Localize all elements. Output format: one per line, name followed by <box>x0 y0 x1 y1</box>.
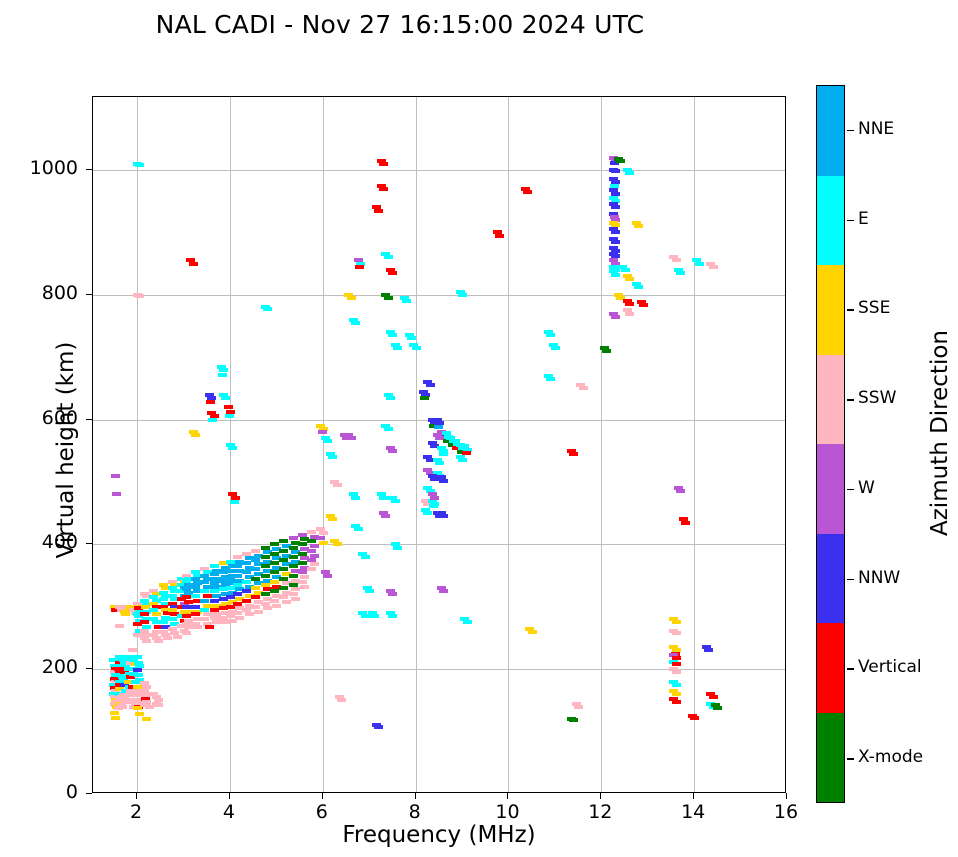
echo-point <box>242 561 251 565</box>
echo-point <box>261 555 270 559</box>
echo-point <box>200 599 209 603</box>
echo-point <box>310 562 319 566</box>
echo-point <box>134 673 143 677</box>
echo-point <box>307 567 316 571</box>
colorbar-label-sse: SSE <box>858 298 890 318</box>
echo-point <box>429 504 438 508</box>
y-axis-tick-label: 200 <box>8 656 78 678</box>
echo-point <box>307 549 316 553</box>
echo-point <box>205 625 214 629</box>
colorbar-title: Azimuth Direction <box>927 253 953 613</box>
echo-point <box>133 668 142 672</box>
echo-point <box>279 549 288 553</box>
echo-point <box>333 542 342 546</box>
x-axis-tick-label: 10 <box>477 801 537 823</box>
echo-point <box>289 574 298 578</box>
echo-point <box>676 489 685 493</box>
gridline-horizontal <box>93 669 785 670</box>
echo-point <box>133 706 142 710</box>
echo-point <box>193 625 202 629</box>
echo-point <box>298 542 307 546</box>
echo-point <box>676 271 685 275</box>
gridline-horizontal <box>93 295 785 296</box>
echo-point <box>379 496 388 500</box>
echo-point <box>221 396 230 400</box>
echo-point <box>420 396 429 400</box>
echo-point <box>206 400 215 404</box>
echo-point <box>361 614 370 618</box>
echo-point <box>115 624 124 628</box>
echo-point <box>233 555 242 559</box>
echo-point <box>226 569 235 573</box>
echo-point <box>233 611 242 615</box>
echo-point <box>384 296 393 300</box>
echo-point <box>191 612 200 616</box>
echo-point <box>439 589 448 593</box>
echo-point <box>270 580 279 584</box>
x-axis-tick <box>693 793 694 799</box>
echo-point <box>672 631 681 635</box>
echo-point <box>111 474 120 478</box>
x-axis-tick-label: 8 <box>385 801 445 823</box>
echo-point <box>242 599 251 603</box>
y-axis-tick <box>86 793 92 794</box>
echo-point <box>140 612 149 616</box>
echo-point <box>388 614 397 618</box>
echo-point <box>611 240 620 244</box>
echo-point <box>251 605 260 609</box>
echo-point <box>142 639 151 643</box>
echo-point <box>224 405 233 409</box>
colorbar-segment-sse[interactable] <box>817 265 844 355</box>
echo-point <box>328 517 337 521</box>
echo-point <box>370 614 379 618</box>
echo-point <box>391 499 400 503</box>
colorbar-label-e: E <box>858 209 869 229</box>
echo-point <box>189 262 198 266</box>
colorbar-tick <box>847 579 854 580</box>
echo-point <box>289 536 298 540</box>
echo-point <box>154 639 163 643</box>
x-axis-tick <box>507 793 508 799</box>
echo-point <box>672 662 681 666</box>
colorbar-segment-x-mode[interactable] <box>817 713 844 803</box>
echo-point <box>200 580 209 584</box>
echo-point <box>495 234 504 238</box>
echo-point <box>402 299 411 303</box>
colorbar-segment-nnw[interactable] <box>817 534 844 624</box>
echo-point <box>347 296 356 300</box>
gridline-vertical <box>323 97 324 792</box>
echo-point <box>435 461 444 465</box>
echo-point <box>121 612 130 616</box>
echo-point <box>704 648 713 652</box>
echo-point <box>523 190 532 194</box>
echo-point <box>245 612 254 616</box>
echo-point <box>546 377 555 381</box>
echo-point <box>307 530 316 534</box>
echo-point <box>225 414 234 418</box>
echo-point <box>634 224 643 228</box>
echo-point <box>611 273 620 277</box>
x-axis-tick <box>136 793 137 799</box>
echo-point <box>242 580 251 584</box>
echo-point <box>611 169 620 173</box>
echo-point <box>551 346 560 350</box>
echo-point <box>208 418 217 422</box>
echo-point <box>386 396 395 400</box>
echo-point <box>546 333 555 337</box>
echo-point <box>388 333 397 337</box>
echo-point <box>110 711 119 715</box>
echo-point <box>611 315 620 319</box>
echo-point <box>233 574 242 578</box>
echo-point <box>182 605 191 609</box>
colorbar-segment-ssw[interactable] <box>817 355 844 445</box>
echo-point <box>270 561 279 565</box>
x-axis-tick <box>786 793 787 799</box>
echo-point <box>569 452 578 456</box>
echo-point <box>298 561 307 565</box>
echo-point <box>112 492 121 496</box>
echo-point <box>695 262 704 266</box>
colorbar-label-ssw: SSW <box>858 388 896 408</box>
echo-point <box>709 695 718 699</box>
colorbar-segment-e[interactable] <box>817 176 844 266</box>
echo-point <box>142 717 151 721</box>
echo-point <box>616 159 625 163</box>
echo-point <box>152 612 161 616</box>
colorbar-label-vertical: Vertical <box>858 657 922 677</box>
echo-point <box>337 698 346 702</box>
gridline-vertical <box>416 97 417 792</box>
echo-point <box>154 703 163 707</box>
y-axis-tick <box>86 543 92 544</box>
echo-point <box>672 258 681 262</box>
echo-point <box>672 700 681 704</box>
echo-point <box>439 479 448 483</box>
x-axis-title: Frequency (MHz) <box>92 822 786 848</box>
colorbar-segment-vertical[interactable] <box>817 623 844 713</box>
echo-point <box>709 265 718 269</box>
echo-point <box>379 162 388 166</box>
echo-point <box>323 574 332 578</box>
echo-point <box>270 599 279 603</box>
colorbar-tick <box>847 309 854 310</box>
echo-point <box>412 346 421 350</box>
echo-point <box>333 483 342 487</box>
echo-point <box>251 586 260 590</box>
echo-point <box>354 527 363 531</box>
plot-area[interactable] <box>92 96 786 793</box>
y-axis-title: Virtual height (km) <box>53 250 79 650</box>
echo-point <box>319 531 328 535</box>
echo-point <box>173 635 182 639</box>
echo-point <box>672 670 681 674</box>
echo-point <box>310 544 319 548</box>
echo-point <box>374 725 383 729</box>
echo-point <box>263 307 272 311</box>
colorbar-tick <box>847 489 854 490</box>
colorbar-label-w: W <box>858 478 875 498</box>
echo-point <box>602 349 611 353</box>
page-title: NAL CADI - Nov 27 16:15:00 2024 UTC <box>0 10 800 39</box>
echo-point <box>423 511 432 515</box>
gridline-horizontal <box>93 170 785 171</box>
echo-point <box>355 265 364 269</box>
echo-point <box>218 373 227 377</box>
echo-point <box>261 592 270 596</box>
x-axis-tick <box>600 793 601 799</box>
echo-point <box>351 321 360 325</box>
echo-point <box>168 617 177 621</box>
echo-point <box>374 209 383 213</box>
echo-point <box>182 631 191 635</box>
echo-point <box>191 433 200 437</box>
echo-point <box>203 594 212 598</box>
echo-point <box>569 718 578 722</box>
y-axis-tick <box>86 668 92 669</box>
echo-point <box>135 294 144 298</box>
echo-point <box>184 600 193 604</box>
echo-point <box>361 555 370 559</box>
echo-point <box>316 536 325 540</box>
echo-point <box>388 592 397 596</box>
echo-point <box>384 255 393 259</box>
echo-point <box>282 600 291 604</box>
echo-point <box>191 605 200 609</box>
echo-point <box>351 496 360 500</box>
echo-point <box>365 589 374 593</box>
colorbar-label-x-mode: X-mode <box>858 747 923 767</box>
echo-point <box>272 604 281 608</box>
echo-point <box>323 439 332 443</box>
echo-point <box>289 555 298 559</box>
echo-point <box>128 648 137 652</box>
echo-point <box>230 500 239 504</box>
echo-point <box>393 346 402 350</box>
colorbar-label-nnw: NNW <box>858 568 900 588</box>
echo-point <box>384 427 393 431</box>
echo-point <box>681 521 690 525</box>
echo-point <box>393 546 402 550</box>
echo-point <box>672 620 681 624</box>
gridline-vertical <box>508 97 509 792</box>
colorbar-tick <box>847 399 854 400</box>
gridline-vertical <box>694 97 695 792</box>
gridline-vertical <box>601 97 602 792</box>
echo-point <box>388 449 397 453</box>
echo-point <box>319 541 328 545</box>
echo-point <box>212 620 221 624</box>
echo-point <box>263 606 272 610</box>
echo-point <box>342 436 351 440</box>
x-axis-tick-label: 2 <box>106 801 166 823</box>
echo-point <box>458 293 467 297</box>
echo-point <box>430 496 439 500</box>
echo-point <box>690 716 699 720</box>
colorbar-tick <box>847 130 854 131</box>
echo-point <box>621 268 630 272</box>
colorbar-tick <box>847 668 854 669</box>
echo-point <box>407 336 416 340</box>
echo-point <box>210 599 219 603</box>
echo-point <box>639 303 648 307</box>
ionogram-figure: NAL CADI - Nov 27 16:15:00 2024 UTC 2468… <box>0 0 958 857</box>
echo-point <box>381 514 390 518</box>
echo-point <box>439 514 448 518</box>
echo-point <box>426 383 435 387</box>
echo-point <box>625 171 634 175</box>
x-axis-tick <box>229 793 230 799</box>
echo-point <box>111 716 120 720</box>
echo-point <box>458 458 467 462</box>
echo-point <box>328 455 337 459</box>
echo-point <box>279 567 288 571</box>
echo-point <box>463 620 472 624</box>
echo-point <box>672 683 681 687</box>
colorbar-tick <box>847 220 854 221</box>
echo-point <box>318 430 327 434</box>
x-axis-tick <box>415 793 416 799</box>
echo-point <box>163 636 172 640</box>
colorbar-label-nne: NNE <box>858 119 894 139</box>
y-axis-tick <box>86 294 92 295</box>
echo-point <box>289 592 298 596</box>
echo-point <box>191 594 200 598</box>
colorbar-tick <box>847 758 854 759</box>
echo-point <box>254 610 263 614</box>
echo-point <box>219 368 228 372</box>
y-axis-tick-label: 0 <box>8 781 78 803</box>
echo-point <box>228 446 237 450</box>
echo-point <box>251 549 260 553</box>
echo-point <box>634 285 643 289</box>
echo-point <box>133 655 142 659</box>
colorbar[interactable] <box>816 85 845 803</box>
colorbar-segment-nne[interactable] <box>817 86 844 176</box>
echo-point <box>118 705 127 709</box>
gridline-horizontal <box>93 544 785 545</box>
echo-point <box>135 712 144 716</box>
x-axis-tick-label: 12 <box>570 801 630 823</box>
echo-point <box>300 575 309 579</box>
echo-point <box>291 597 300 601</box>
echo-point <box>200 617 209 621</box>
echo-point <box>300 585 309 589</box>
echo-point <box>579 386 588 390</box>
echo-point <box>135 163 144 167</box>
echo-point <box>379 187 388 191</box>
y-axis-tick <box>86 419 92 420</box>
echo-point <box>528 630 537 634</box>
x-axis-tick-label: 6 <box>292 801 352 823</box>
echo-point <box>270 542 279 546</box>
echo-point <box>625 302 634 306</box>
echo-point <box>611 230 620 234</box>
echo-point <box>713 706 722 710</box>
echo-point <box>235 616 244 620</box>
echo-point <box>611 205 620 209</box>
echo-point <box>298 580 307 584</box>
echo-point <box>625 312 634 316</box>
x-axis-tick-label: 4 <box>199 801 259 823</box>
echo-point <box>291 587 300 591</box>
echo-point <box>251 567 260 571</box>
echo-point <box>439 452 448 456</box>
y-axis-tick-label: 1000 <box>8 157 78 179</box>
echo-point <box>233 592 242 596</box>
y-axis-tick <box>86 169 92 170</box>
echo-point <box>388 271 397 275</box>
echo-point <box>261 574 270 578</box>
x-axis-tick <box>322 793 323 799</box>
echo-point <box>279 586 288 590</box>
echo-point <box>434 425 443 429</box>
echo-point <box>574 705 583 709</box>
colorbar-segment-w[interactable] <box>817 444 844 534</box>
echo-point <box>672 692 681 696</box>
x-axis-tick-label: 14 <box>663 801 723 823</box>
x-axis-tick-label: 16 <box>756 801 816 823</box>
